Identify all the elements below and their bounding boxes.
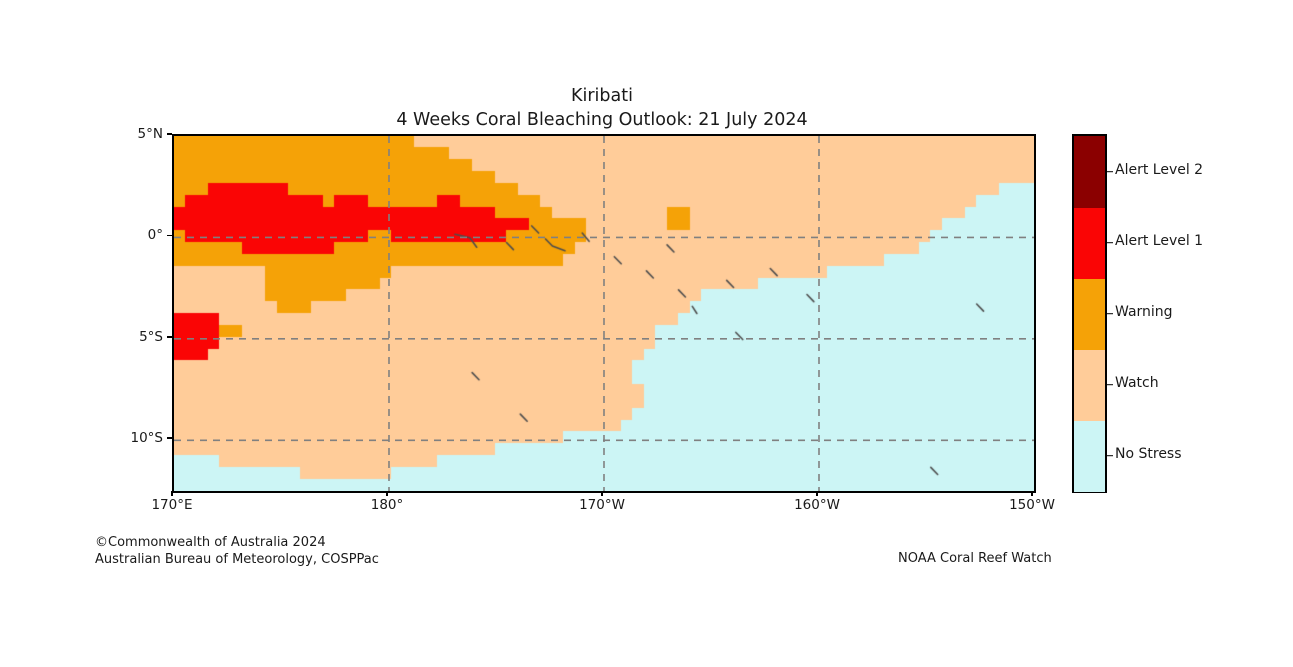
legend-tick-4 xyxy=(1107,171,1113,173)
x-tick-label-2: 170°W xyxy=(579,497,625,513)
y-tick-label-2: 5°S xyxy=(43,329,163,345)
y-tick-mark-1 xyxy=(167,235,172,237)
legend-swatch-alert-level-2[interactable] xyxy=(1074,136,1105,208)
legend-swatch-alert-level-1[interactable] xyxy=(1074,207,1105,279)
legend-label-warning: Warning xyxy=(1115,304,1173,320)
legend-tick-3 xyxy=(1107,242,1113,244)
x-tick-label-0: 170°E xyxy=(151,497,192,513)
x-tick-label-4: 150°W xyxy=(1009,497,1055,513)
coral-stress-raster xyxy=(174,136,1034,491)
legend-label-no-stress: No Stress xyxy=(1115,446,1182,462)
x-tick-mark-4 xyxy=(1031,491,1033,496)
legend-tick-2 xyxy=(1107,313,1113,315)
footer-credit: ©Commonwealth of Australia 2024 Australi… xyxy=(95,535,379,568)
data-attribution: NOAA Coral Reef Watch xyxy=(898,551,1052,566)
y-tick-mark-3 xyxy=(167,437,172,439)
x-tick-mark-3 xyxy=(816,491,818,496)
y-tick-label-1: 0° xyxy=(43,227,163,243)
y-tick-mark-2 xyxy=(167,336,172,338)
legend-label-alert-level-1: Alert Level 1 xyxy=(1115,233,1203,249)
page-title: Kiribati xyxy=(172,84,1032,108)
x-tick-mark-1 xyxy=(386,491,388,496)
organisation-text: Australian Bureau of Meteorology, COSPPa… xyxy=(95,552,379,569)
y-tick-label-3: 10°S xyxy=(43,430,163,446)
coral-bleaching-outlook-figure: Kiribati 4 Weeks Coral Bleaching Outlook… xyxy=(0,0,1293,667)
legend-colorbar[interactable] xyxy=(1072,134,1107,493)
legend-swatch-watch[interactable] xyxy=(1074,349,1105,421)
legend-label-watch: Watch xyxy=(1115,375,1159,391)
x-tick-mark-2 xyxy=(601,491,603,496)
y-tick-label-0: 5°N xyxy=(43,126,163,142)
map-plot-area[interactable] xyxy=(172,134,1036,493)
chart-subtitle: 4 Weeks Coral Bleaching Outlook: 21 July… xyxy=(172,108,1032,132)
legend-tick-0 xyxy=(1107,455,1113,457)
copyright-text: ©Commonwealth of Australia 2024 xyxy=(95,535,379,552)
legend-swatch-warning[interactable] xyxy=(1074,278,1105,350)
x-tick-label-1: 180° xyxy=(371,497,404,513)
legend-swatch-no-stress[interactable] xyxy=(1074,420,1105,492)
legend-tick-1 xyxy=(1107,384,1113,386)
y-tick-mark-0 xyxy=(167,133,172,135)
x-tick-label-3: 160°W xyxy=(794,497,840,513)
chart-title-block: Kiribati 4 Weeks Coral Bleaching Outlook… xyxy=(172,84,1032,132)
x-tick-mark-0 xyxy=(171,491,173,496)
legend-label-alert-level-2: Alert Level 2 xyxy=(1115,162,1203,178)
